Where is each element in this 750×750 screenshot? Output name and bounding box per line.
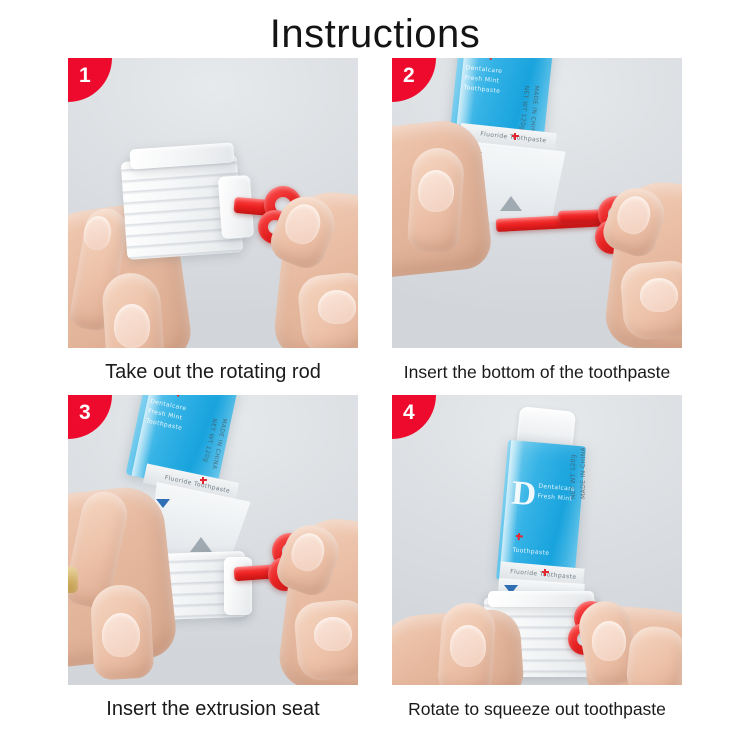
tube-bottom-mark <box>190 537 212 552</box>
step-photo-4: D Dentalcare Fresh Mint Toothpaste NET W… <box>392 395 682 685</box>
page-title: Instructions <box>0 8 750 60</box>
right-index-nail <box>318 290 356 324</box>
tube-side-origin: MADE IN CHINA <box>580 447 588 499</box>
left-thumb-nail <box>102 613 140 657</box>
tube-brand-mark: D <box>510 476 537 512</box>
step-card-2: Dentalcare Fresh Mint Toothpaste NET WT … <box>392 58 682 393</box>
tube-side-weight: NET WT 120g <box>570 454 578 499</box>
step-caption-1: Take out the rotating rod <box>68 350 358 393</box>
step-caption-4: Rotate to squeeze out toothpaste <box>392 687 682 730</box>
step-card-1: 1 Take out the rotating rod <box>68 58 358 393</box>
left-thumb-nail <box>114 304 150 348</box>
step-4-illustration: D Dentalcare Fresh Mint Toothpaste NET W… <box>392 395 682 685</box>
tube-band-cross-icon <box>200 477 207 484</box>
step-photo-3: Dentalcare Fresh Mint Toothpaste NET WT … <box>68 395 358 685</box>
step-caption-3: Insert the extrusion seat <box>68 687 358 730</box>
right-index-nail <box>640 278 678 312</box>
left-thumb-nail <box>418 170 454 212</box>
steps-grid: 1 Take out the rotating rod Dentalcare F… <box>68 58 682 730</box>
tube-type-line: Toothpaste <box>512 547 549 558</box>
left-thumb-nail <box>450 625 486 667</box>
tube-cross-icon <box>488 58 496 60</box>
tube-bottom-mark <box>500 196 522 211</box>
step-1-illustration <box>68 58 358 348</box>
instructions-page: Instructions <box>0 0 750 750</box>
step-caption-2: Insert the bottom of the toothpaste <box>392 350 682 393</box>
seat-top-flange <box>488 591 594 607</box>
right-index-nail <box>314 617 352 651</box>
step-photo-2: Dentalcare Fresh Mint Toothpaste NET WT … <box>392 58 682 348</box>
tube-variant-line: Fresh Mint <box>537 493 572 504</box>
step-3-illustration: Dentalcare Fresh Mint Toothpaste NET WT … <box>68 395 358 685</box>
step-card-4: D Dentalcare Fresh Mint Toothpaste NET W… <box>392 395 682 730</box>
step-2-illustration: Dentalcare Fresh Mint Toothpaste NET WT … <box>392 58 682 348</box>
left-ring-band <box>68 567 78 593</box>
step-photo-1: 1 <box>68 58 358 348</box>
tube-band-cross-icon <box>542 569 549 576</box>
right-index-nail <box>592 621 626 661</box>
tube-cross-icon <box>175 395 183 397</box>
tube-band-cross-icon <box>512 133 519 140</box>
step-card-3: Dentalcare Fresh Mint Toothpaste NET WT … <box>68 395 358 730</box>
tube-cross-icon <box>516 533 524 541</box>
